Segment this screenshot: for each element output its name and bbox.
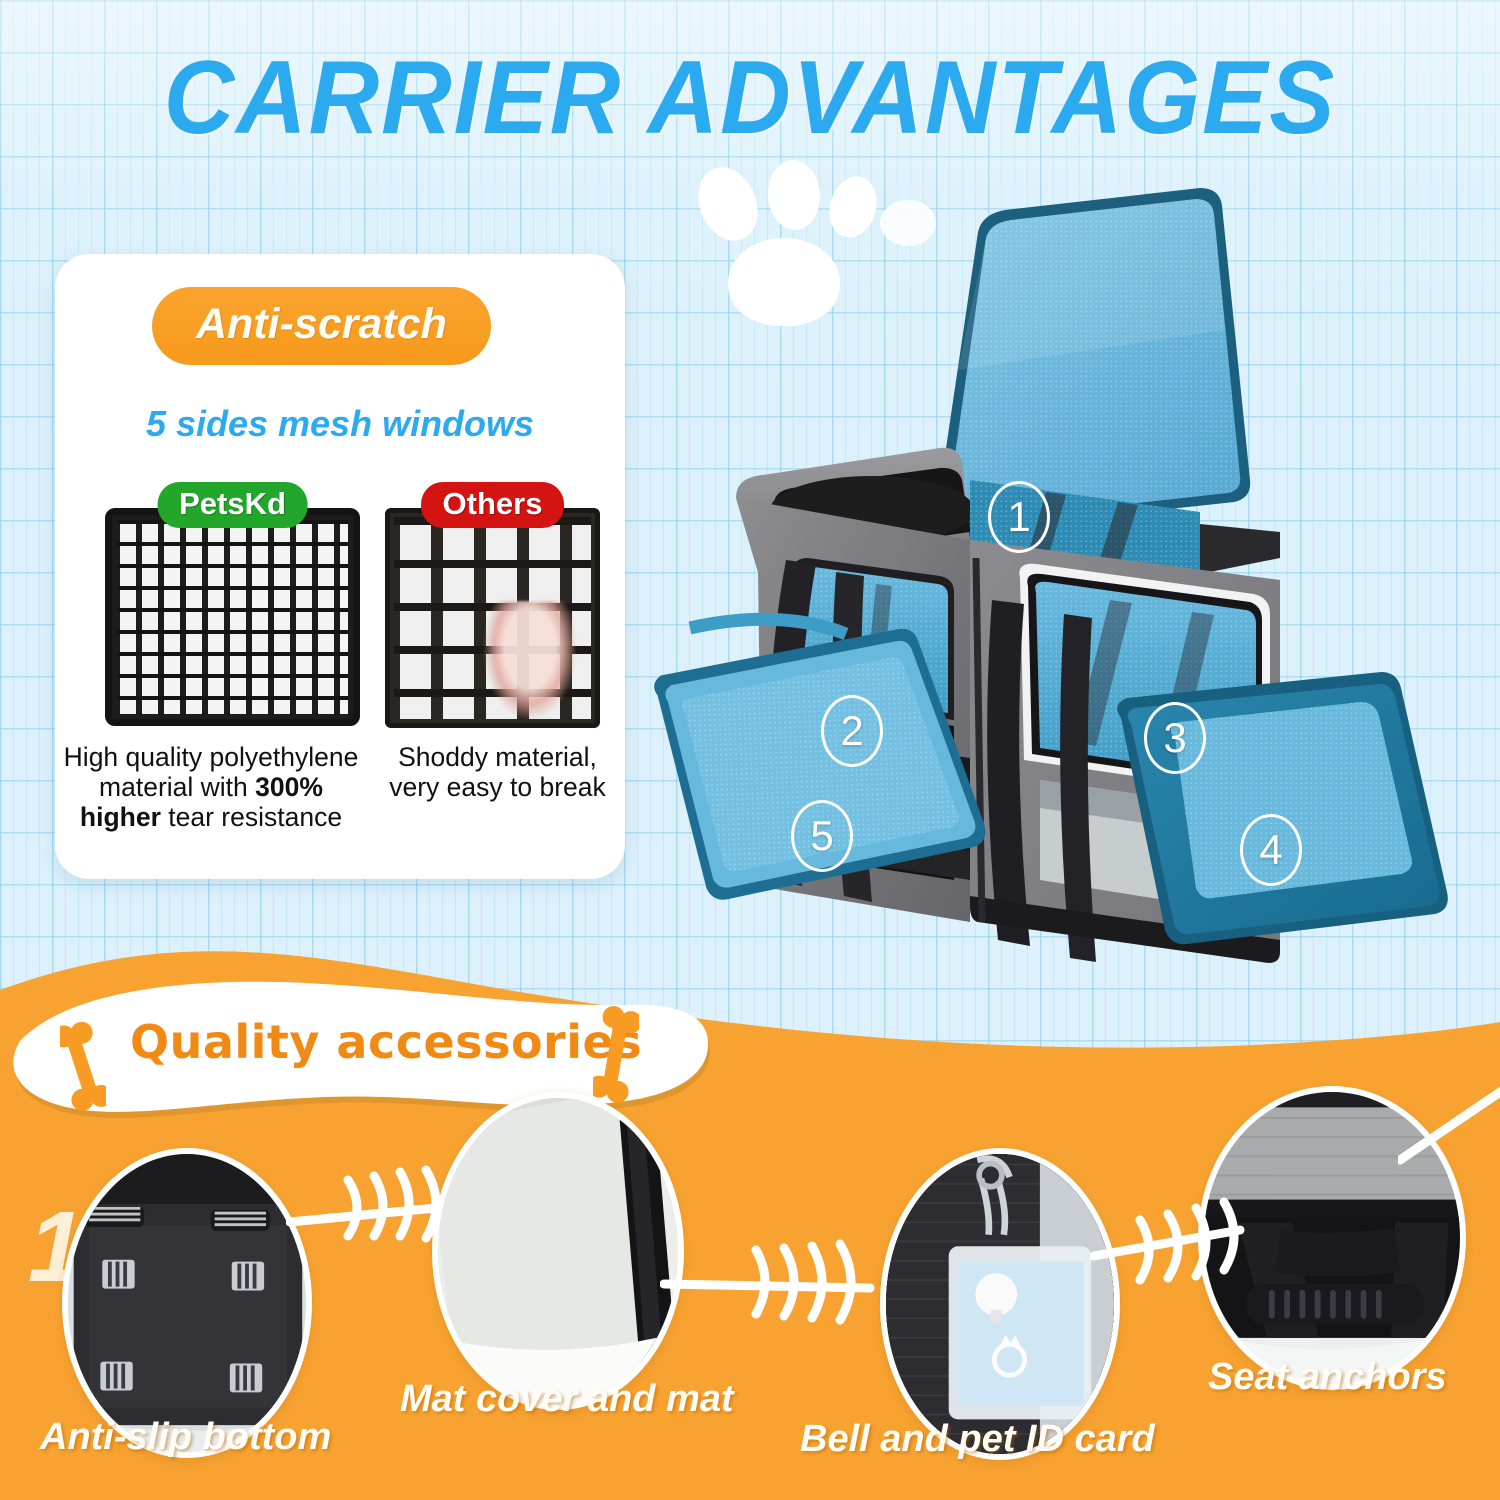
caption-petskd: High quality polyethylene material with … [56,742,366,832]
caption-others-text: Shoddy material, very easy to break [389,742,606,802]
pet-carrier-icon: 1 2 3 4 5 [640,180,1500,970]
caption-others: Shoddy material, very easy to break [385,742,610,802]
carrier-number-badge-4: 4 [1240,814,1302,886]
bell-id-card-image [886,1154,1114,1454]
mesh-windows-subtitle: 5 sides mesh windows [55,403,625,445]
anti-slip-bottom-image [68,1154,306,1452]
mat-cover-photo [432,1092,684,1410]
fishbone-arrow-icon [1398,1082,1500,1172]
bone-icon [593,1005,639,1105]
cat-paw-through-mesh-icon [484,601,576,719]
fine-mesh-icon [105,508,360,726]
mat-cover-image [438,1098,678,1404]
brand-badge-others: Others [421,482,565,528]
carrier-top-lid [936,188,1250,532]
fishbone-arrow-icon [286,1160,456,1280]
accessory-label-anti-slip-bottom: Anti-slip bottom [40,1416,331,1459]
carrier-number-badge-1: 1 [988,481,1050,553]
fine-mesh-rows [117,520,348,714]
anti-scratch-badge: Anti-scratch [152,287,491,365]
brand-badge-petskd: PetsKd [157,482,308,528]
quality-accessories-title: Quality accessories [130,1015,570,1069]
anti-slip-bottom-photo [62,1148,312,1458]
page-title: CARRIER ADVANTAGES [45,46,1455,150]
carrier-number-badge-2: 2 [821,695,883,767]
carrier-number-badge-5: 5 [791,800,853,872]
accessory-label-mat-cover: Mat cover and mat [400,1378,734,1421]
fishbone-arrow-icon [660,1222,900,1352]
caption-petskd-post: tear resistance [161,802,342,832]
carrier-illustration [640,180,1500,970]
bone-icon [60,1018,106,1114]
bell-id-card-photo [880,1148,1120,1460]
fishbone-arrow-icon [1090,1176,1270,1306]
accessory-label-bell-id-card: Bell and pet ID card [800,1418,1155,1461]
comparison-petskd: PetsKd [105,486,360,736]
accessory-label-seat-anchors: Seat anchors [1208,1356,1447,1399]
carrier-number-badge-3: 3 [1144,702,1206,774]
coarse-torn-mesh-icon [385,508,600,728]
comparison-others: Others [385,486,600,736]
